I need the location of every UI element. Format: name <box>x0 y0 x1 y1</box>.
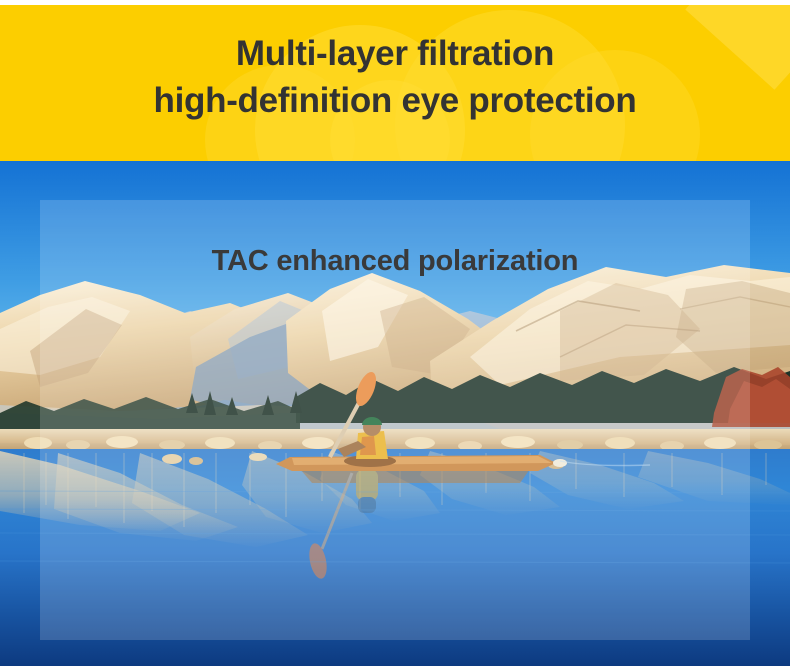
headline-text-block: Multi-layer filtration high-definition e… <box>0 0 790 156</box>
headline-line-2: high-definition eye protection <box>154 79 637 124</box>
promo-banner-page: Multi-layer filtration high-definition e… <box>0 0 790 666</box>
hero-subtitle: TAC enhanced polarization <box>40 245 750 278</box>
lake-landscape-photo <box>0 161 790 666</box>
landscape-illustration <box>0 161 790 666</box>
subtitle-block: TAC enhanced polarization <box>40 245 750 278</box>
kayak-tip <box>553 459 567 467</box>
headline-line-1: Multi-layer filtration <box>236 32 554 77</box>
